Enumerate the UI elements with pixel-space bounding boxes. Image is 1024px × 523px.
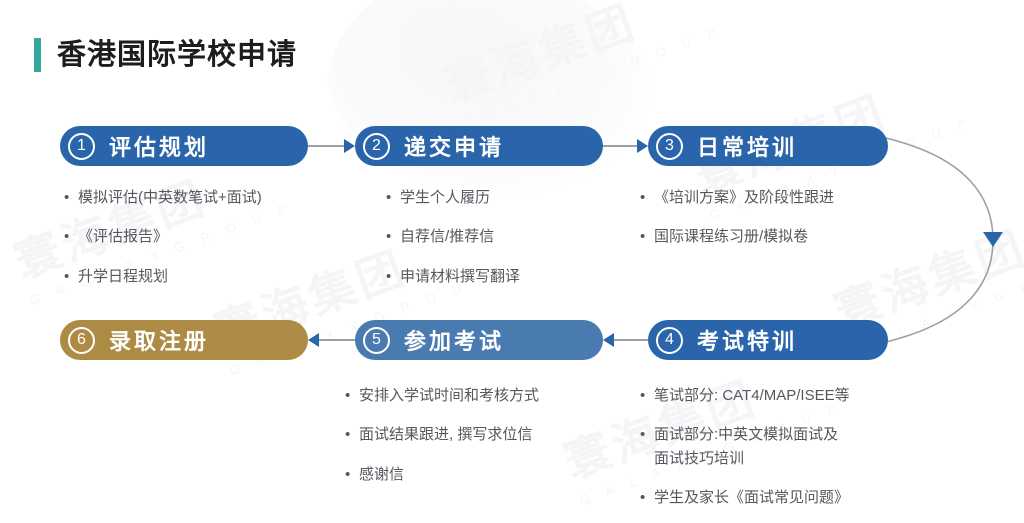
- connector-line: [319, 339, 355, 341]
- list-item: • 面试部分:中英文模拟面试及 面试技巧培训: [640, 423, 960, 470]
- step-label-5: 参加考试: [404, 324, 504, 356]
- list-item: • 自荐信/推荐信: [386, 225, 656, 248]
- arrow-right-icon: [344, 139, 355, 153]
- bullet-dot-icon: •: [386, 265, 400, 288]
- step-label-1: 评估规划: [109, 130, 209, 162]
- arrow-right-icon: [637, 139, 648, 153]
- bullet-dot-icon: •: [345, 384, 359, 407]
- infographic-canvas: 寰海集团 G A L A X Y G R O U P 寰海集团 G A L A …: [0, 0, 1024, 523]
- list-item-text: 安排入学试时间和考核方式: [359, 384, 635, 407]
- connector-step1-step2: [308, 134, 355, 158]
- list-item: • 《评估报告》: [64, 225, 364, 248]
- list-item: • 学生及家长《面试常见问题》: [640, 486, 960, 509]
- step-number-1: 1: [68, 133, 95, 160]
- connector-line: [603, 145, 637, 147]
- step-number-6: 6: [68, 327, 95, 354]
- list-item-text: 《培训方案》及阶段性跟进: [654, 186, 940, 209]
- step-pill-3[interactable]: 3 日常培训: [648, 126, 888, 166]
- step-number-2: 2: [363, 133, 390, 160]
- step-pill-4[interactable]: 4 考试特训: [648, 320, 888, 360]
- watermark-subtext: G A L A X Y G R O U P: [457, 23, 724, 133]
- list-item: • 国际课程练习册/模拟卷: [640, 225, 940, 248]
- list-item: • 笔试部分: CAT4/MAP/ISEE等: [640, 384, 960, 407]
- page-title: 香港国际学校申请: [34, 34, 297, 76]
- list-item: • 升学日程规划: [64, 265, 364, 288]
- bullet-dot-icon: •: [345, 423, 359, 446]
- list-item-text: 申请材料撰写翻译: [400, 265, 656, 288]
- list-item-text: 学生及家长《面试常见问题》: [654, 486, 960, 509]
- connector-line: [614, 339, 648, 341]
- step-label-6: 录取注册: [109, 324, 209, 356]
- bullet-list-step3: • 《培训方案》及阶段性跟进 • 国际课程练习册/模拟卷: [640, 186, 940, 249]
- list-item: • 申请材料撰写翻译: [386, 265, 656, 288]
- list-item: • 安排入学试时间和考核方式: [345, 384, 635, 407]
- connector-step4-step5: [603, 328, 648, 352]
- list-item: • 《培训方案》及阶段性跟进: [640, 186, 940, 209]
- bullet-dot-icon: •: [64, 225, 78, 248]
- list-item: • 学生个人履历: [386, 186, 656, 209]
- list-item: • 感谢信: [345, 463, 635, 486]
- bullet-list-step5: • 安排入学试时间和考核方式 • 面试结果跟进, 撰写求位信 • 感谢信: [345, 384, 635, 486]
- bullet-list-step2: • 学生个人履历 • 自荐信/推荐信 • 申请材料撰写翻译: [386, 186, 656, 288]
- list-item-text: 笔试部分: CAT4/MAP/ISEE等: [654, 384, 960, 407]
- list-item-text: 面试结果跟进, 撰写求位信: [359, 423, 635, 446]
- bullet-list-step1: • 模拟评估(中英数笔试+面试) • 《评估报告》 • 升学日程规划: [64, 186, 364, 288]
- title-accent-bar: [34, 38, 41, 72]
- step-pill-1[interactable]: 1 评估规划: [60, 126, 308, 166]
- list-item: • 面试结果跟进, 撰写求位信: [345, 423, 635, 446]
- list-item-text: 学生个人履历: [400, 186, 656, 209]
- watermark-text: 寰海集团: [438, 0, 644, 112]
- connector-step2-step3: [603, 134, 648, 158]
- connector-line: [308, 145, 344, 147]
- list-item-text: 升学日程规划: [78, 265, 364, 288]
- bullet-dot-icon: •: [386, 186, 400, 209]
- bullet-dot-icon: •: [640, 225, 654, 248]
- step-label-3: 日常培训: [697, 130, 797, 162]
- list-item: • 模拟评估(中英数笔试+面试): [64, 186, 364, 209]
- list-item-text: 面试部分:中英文模拟面试及 面试技巧培训: [654, 423, 960, 470]
- step-pill-6[interactable]: 6 录取注册: [60, 320, 308, 360]
- arrow-left-icon: [308, 333, 319, 347]
- bullet-list-step4: • 笔试部分: CAT4/MAP/ISEE等 • 面试部分:中英文模拟面试及 面…: [640, 384, 960, 509]
- title-text: 香港国际学校申请: [57, 41, 297, 70]
- step-label-2: 递交申请: [404, 130, 504, 162]
- watermark: 寰海集团 G A L A X Y G R O U P: [434, 0, 725, 132]
- step-pill-2[interactable]: 2 递交申请: [355, 126, 603, 166]
- step-number-5: 5: [363, 327, 390, 354]
- list-item-text: 《评估报告》: [78, 225, 364, 248]
- bullet-dot-icon: •: [640, 186, 654, 209]
- bullet-dot-icon: •: [64, 265, 78, 288]
- step-number-3: 3: [656, 133, 683, 160]
- list-item-text: 自荐信/推荐信: [400, 225, 656, 248]
- bullet-dot-icon: •: [640, 486, 654, 509]
- bullet-dot-icon: •: [345, 463, 359, 486]
- list-item-text: 国际课程练习册/模拟卷: [654, 225, 940, 248]
- bullet-dot-icon: •: [386, 225, 400, 248]
- list-item-text: 模拟评估(中英数笔试+面试): [78, 186, 364, 209]
- bullet-dot-icon: •: [640, 384, 654, 407]
- step-pill-5[interactable]: 5 参加考试: [355, 320, 603, 360]
- bullet-dot-icon: •: [64, 186, 78, 209]
- bullet-dot-icon: •: [640, 423, 654, 446]
- connector-step5-step6: [308, 328, 355, 352]
- step-number-4: 4: [656, 327, 683, 354]
- list-item-text: 感谢信: [359, 463, 635, 486]
- step-label-4: 考试特训: [697, 324, 797, 356]
- arrow-left-icon: [603, 333, 614, 347]
